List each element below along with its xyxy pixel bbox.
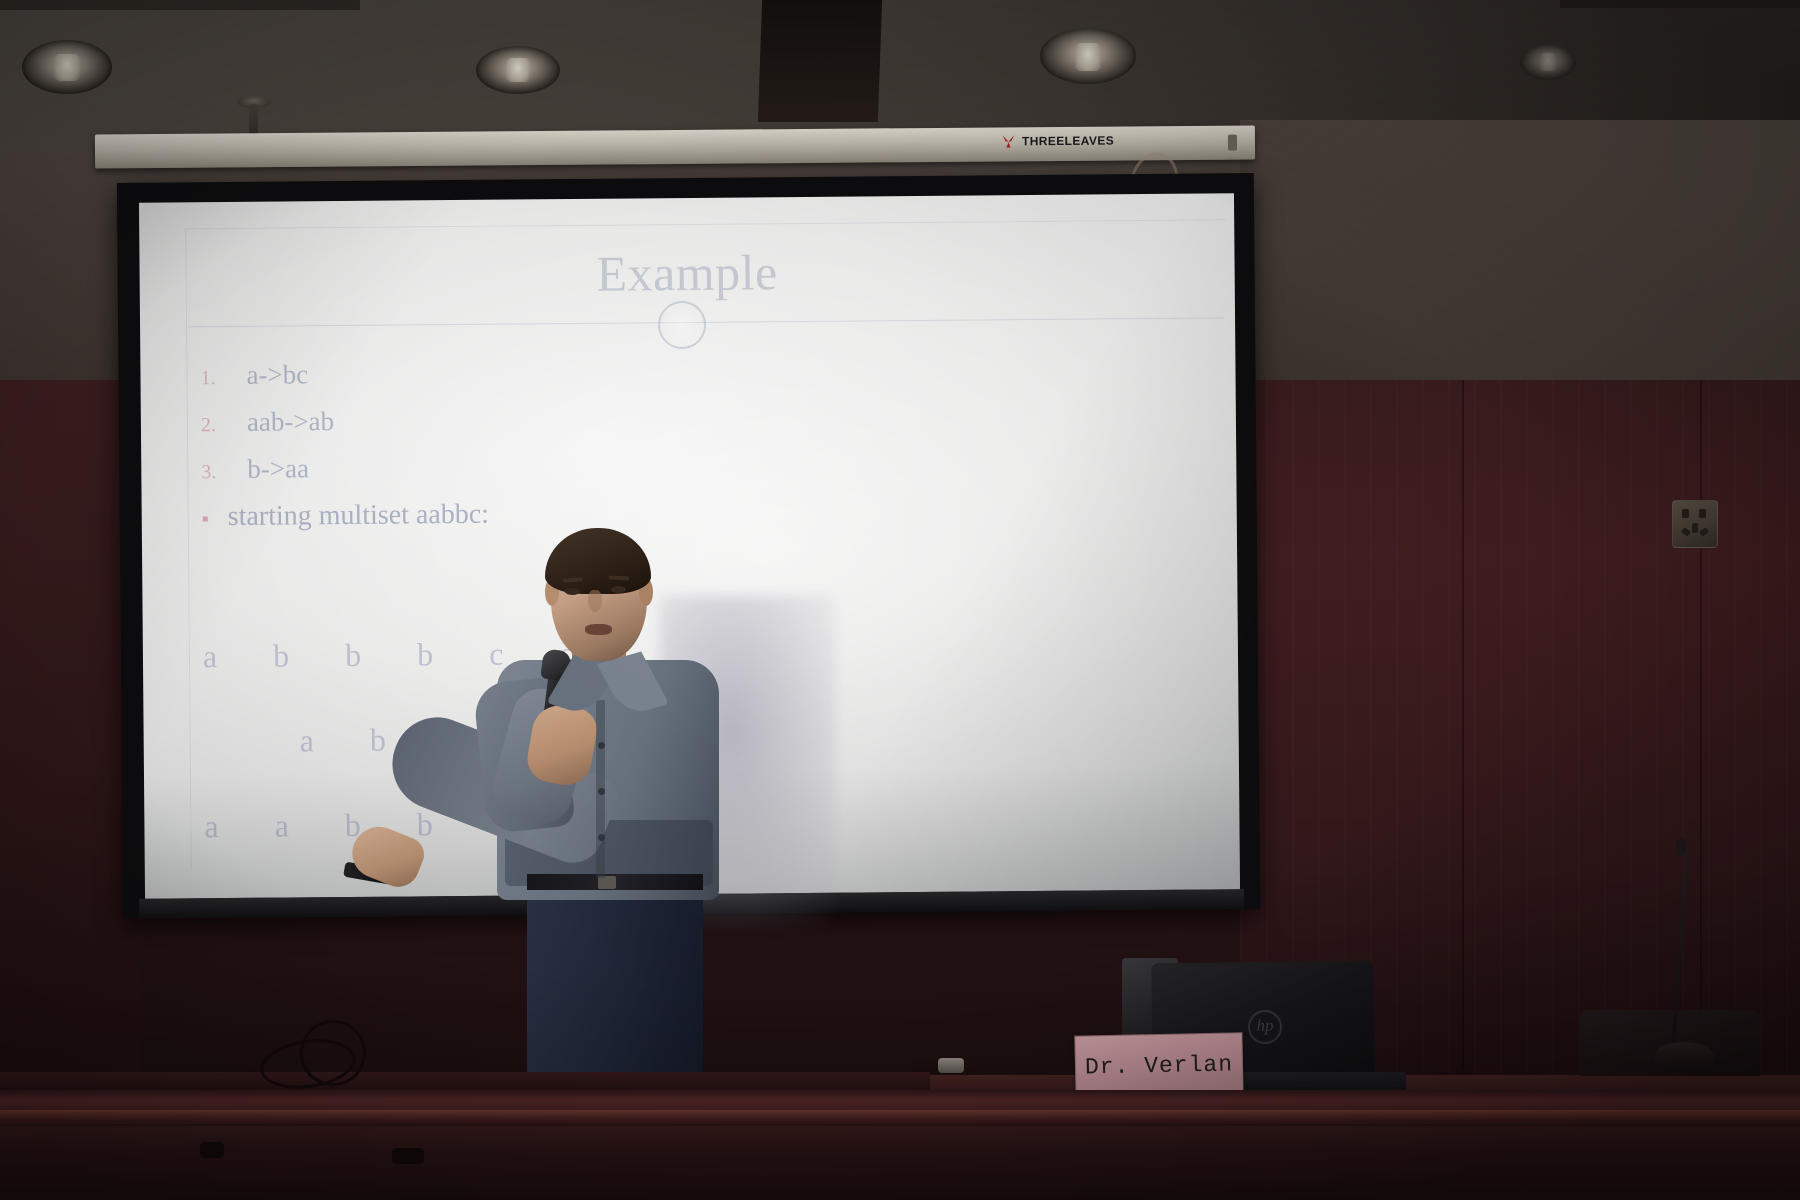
slide-title: Example <box>139 239 1234 307</box>
recessed-downlight-center <box>476 46 560 94</box>
wall-seam <box>1700 380 1702 1070</box>
shirt-button <box>598 742 605 749</box>
rule-number: 2. <box>201 414 247 437</box>
stage-front-panel <box>0 1090 1800 1200</box>
list-item: ▪ starting multiset aabbc: <box>202 496 842 534</box>
recessed-downlight-right <box>1040 28 1136 84</box>
screen-brand-logo: THREELEAVES <box>1000 133 1114 149</box>
rule-number: 3. <box>201 461 247 484</box>
recessed-downlight-left <box>22 40 112 94</box>
lecture-hall-photo: THREELEAVES Example 1. a->bc 2. aab->ab <box>0 0 1800 1200</box>
slide-rule-list: 1. a->bc 2. aab->ab 3. b->aa ▪ starting … <box>200 355 841 534</box>
gooseneck-microphone-base <box>1655 1042 1713 1068</box>
list-item: 1. a->bc <box>200 355 840 392</box>
ceiling-seam-right <box>1560 0 1800 8</box>
rule-text: a->bc <box>246 359 308 391</box>
shirt-button <box>598 834 605 841</box>
upper-wall-right-section <box>1240 120 1800 400</box>
presenter-eye-left <box>565 588 580 595</box>
wall-power-outlet[interactable] <box>1672 500 1718 548</box>
rule-number: 1. <box>200 367 246 390</box>
slide-ring-ornament-icon <box>658 301 706 349</box>
presenter-eye-right <box>611 586 626 593</box>
bullet-text: starting multiset aabbc: <box>228 499 490 533</box>
rule-text: b->aa <box>247 453 309 485</box>
downlight-bulb <box>54 54 79 81</box>
bullet-marker-icon: ▪ <box>202 508 228 531</box>
recessed-downlight-far-right <box>1520 44 1576 80</box>
presenter-mouth <box>585 624 612 635</box>
hp-logo-icon: hp <box>1248 1010 1282 1044</box>
screen-brand-label: THREELEAVES <box>1022 133 1114 148</box>
shirt-button <box>598 788 605 795</box>
outlet-slot <box>1692 523 1698 533</box>
stage-rail <box>0 1110 1800 1126</box>
gooseneck-microphone-capsule-icon <box>1676 838 1686 856</box>
screen-end-cap <box>1228 135 1237 151</box>
presenter-legs <box>527 878 703 1088</box>
outlet-slot <box>1699 509 1706 518</box>
list-item: 3. b->aa <box>201 449 841 486</box>
presenter-nose <box>588 590 602 612</box>
wall-seam <box>1462 380 1464 1070</box>
floor-cable-plug <box>200 1142 224 1158</box>
floor-cable-plug <box>392 1148 424 1164</box>
outlet-slot <box>1699 527 1709 537</box>
list-item: 2. aab->ab <box>201 402 841 439</box>
name-placard-text: Dr. Verlan <box>1085 1051 1234 1080</box>
desk-small-object <box>938 1058 964 1073</box>
downlight-bulb <box>1540 53 1556 71</box>
downlight-bulb <box>1075 43 1102 71</box>
outlet-slot <box>1681 527 1691 537</box>
ceiling-panel-gap <box>758 0 882 122</box>
three-leaves-icon <box>1000 133 1017 148</box>
downlight-bulb <box>506 58 530 82</box>
rule-text: aab->ab <box>247 406 334 438</box>
ceiling-seam-left <box>0 0 360 10</box>
outlet-slot <box>1682 509 1689 518</box>
